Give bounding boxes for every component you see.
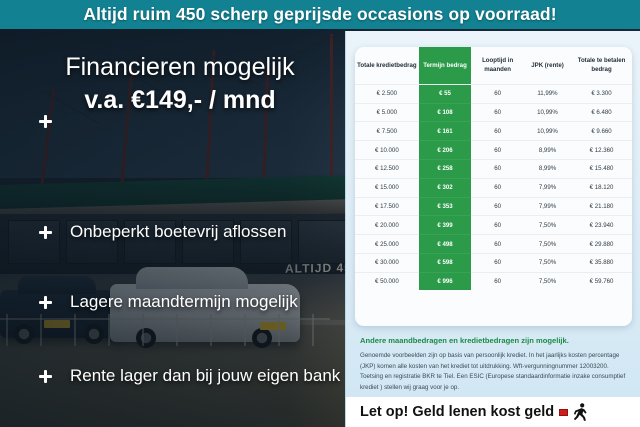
bullet-item-1-label: Onbeperkt boetevrij aflossen: [70, 222, 286, 242]
legal-note-body: Genoemde voorbeelden zijn op basis van p…: [360, 351, 628, 394]
table-cell: 60: [471, 197, 524, 216]
table-cell: € 55: [419, 84, 472, 103]
table-col-header: Termijn bedrag: [419, 47, 472, 84]
table-row: € 15.000€ 302607,99%€ 18.120: [355, 178, 632, 197]
plus-icon: [32, 218, 59, 245]
table-cell: € 9.660: [571, 122, 632, 141]
walking-person-icon: [573, 403, 588, 421]
loan-warning-text: Let op! Geld lenen kost geld: [360, 404, 554, 420]
legal-note-heading: Andere maandbedragen en kredietbedragen …: [360, 336, 628, 345]
table-cell: 7,50%: [524, 216, 571, 235]
table-row: € 5.000€ 1086010,99%€ 6.480: [355, 103, 632, 122]
table-col-header: Totale te betalen bedrag: [571, 47, 632, 84]
table-cell: 60: [471, 141, 524, 160]
table-row: € 25.000€ 498607,50%€ 29.880: [355, 235, 632, 254]
table-cell: 8,99%: [524, 141, 571, 160]
table-cell: € 206: [419, 141, 472, 160]
table-cell: € 12.360: [571, 141, 632, 160]
loan-warning: Let op! Geld lenen kost geld: [346, 397, 640, 427]
table-col-header: Totale kredietbedrag: [355, 47, 419, 84]
table-row: € 17.500€ 353607,99%€ 21.180: [355, 197, 632, 216]
table-row: € 12.500€ 258608,99%€ 15.480: [355, 160, 632, 179]
table-cell: € 399: [419, 216, 472, 235]
table-cell: 60: [471, 272, 524, 290]
table-cell: € 50.000: [355, 272, 419, 290]
table-cell: € 15.000: [355, 178, 419, 197]
bullet-item-3: Rente lager dan bij jouw eigen bank: [32, 362, 340, 389]
table-cell: 7,99%: [524, 197, 571, 216]
rates-table: Totale kredietbedragTermijn bedragLoopti…: [355, 47, 632, 290]
finance-panel: Totale kredietbedragTermijn bedragLoopti…: [345, 31, 640, 427]
table-row: € 20.000€ 399607,50%€ 23.940: [355, 216, 632, 235]
table-cell: € 25.000: [355, 235, 419, 254]
table-cell: 10,99%: [524, 103, 571, 122]
headline: Financieren mogelijk v.a. €149,- / mnd: [30, 54, 330, 115]
table-cell: 60: [471, 235, 524, 254]
headline-line-2: v.a. €149,- / mnd: [30, 85, 330, 115]
table-cell: € 23.940: [571, 216, 632, 235]
warning-box-icon: [559, 409, 568, 416]
table-cell: € 21.180: [571, 197, 632, 216]
table-cell: € 2.500: [355, 84, 419, 103]
table-cell: € 15.480: [571, 160, 632, 179]
table-cell: € 20.000: [355, 216, 419, 235]
plus-icon: [32, 362, 59, 389]
table-cell: 60: [471, 178, 524, 197]
table-cell: € 302: [419, 178, 472, 197]
table-cell: € 108: [419, 103, 472, 122]
table-cell: 60: [471, 253, 524, 272]
table-cell: 60: [471, 216, 524, 235]
bullet-item-2: Lagere maandtermijn mogelijk: [32, 288, 298, 315]
plus-icon: [32, 288, 59, 315]
table-cell: 7,50%: [524, 272, 571, 290]
table-cell: € 3.300: [571, 84, 632, 103]
table-cell: 60: [471, 103, 524, 122]
table-col-header: JPK (rente): [524, 47, 571, 84]
table-cell: € 59.760: [571, 272, 632, 290]
table-cell: € 498: [419, 235, 472, 254]
table-cell: € 30.000: [355, 253, 419, 272]
top-promo-banner-text: Altijd ruim 450 scherp geprijsde occasio…: [83, 4, 556, 25]
table-cell: 8,99%: [524, 160, 571, 179]
table-cell: 10,99%: [524, 122, 571, 141]
bullet-item-2-label: Lagere maandtermijn mogelijk: [70, 292, 298, 312]
table-cell: 7,50%: [524, 235, 571, 254]
bullet-item-3-label: Rente lager dan bij jouw eigen bank: [70, 366, 340, 386]
table-cell: € 258: [419, 160, 472, 179]
table-cell: € 353: [419, 197, 472, 216]
table-cell: 7,50%: [524, 253, 571, 272]
table-cell: € 29.880: [571, 235, 632, 254]
table-cell: 60: [471, 84, 524, 103]
table-cell: € 161: [419, 122, 472, 141]
table-cell: € 6.480: [571, 103, 632, 122]
top-promo-banner: Altijd ruim 450 scherp geprijsde occasio…: [0, 0, 640, 29]
table-cell: 60: [471, 122, 524, 141]
table-row: € 30.000€ 598607,50%€ 35.880: [355, 253, 632, 272]
plus-icon: [32, 107, 59, 134]
table-row: € 2.500€ 556011,99%€ 3.300: [355, 84, 632, 103]
table-cell: € 996: [419, 272, 472, 290]
table-cell: € 5.000: [355, 103, 419, 122]
table-row: € 50.000€ 996607,50%€ 59.760: [355, 272, 632, 290]
rates-table-card: Totale kredietbedragTermijn bedragLoopti…: [355, 47, 632, 326]
table-cell: € 12.500: [355, 160, 419, 179]
table-cell: € 7.500: [355, 122, 419, 141]
legal-note: Andere maandbedragen en kredietbedragen …: [360, 336, 628, 394]
promo-banner-stage: EALER INRUILAUTO'S JOHAN MEURE ALTIJD 45…: [0, 0, 640, 427]
table-cell: € 18.120: [571, 178, 632, 197]
table-cell: € 35.880: [571, 253, 632, 272]
headline-line-1: Financieren mogelijk: [30, 54, 330, 80]
table-cell: 7,99%: [524, 178, 571, 197]
left-content: Financieren mogelijk v.a. €149,- / mnd O…: [0, 29, 348, 427]
bullet-item-1: Onbeperkt boetevrij aflossen: [32, 218, 286, 245]
table-row: € 7.500€ 1616010,99%€ 9.660: [355, 122, 632, 141]
table-row: € 10.000€ 206608,99%€ 12.360: [355, 141, 632, 160]
table-cell: € 17.500: [355, 197, 419, 216]
table-cell: € 10.000: [355, 141, 419, 160]
table-col-header: Looptijd in maanden: [471, 47, 524, 84]
table-header-row: Totale kredietbedragTermijn bedragLoopti…: [355, 47, 632, 84]
table-cell: € 598: [419, 253, 472, 272]
table-cell: 11,99%: [524, 84, 571, 103]
bullet-financieren: [32, 107, 59, 134]
table-cell: 60: [471, 160, 524, 179]
